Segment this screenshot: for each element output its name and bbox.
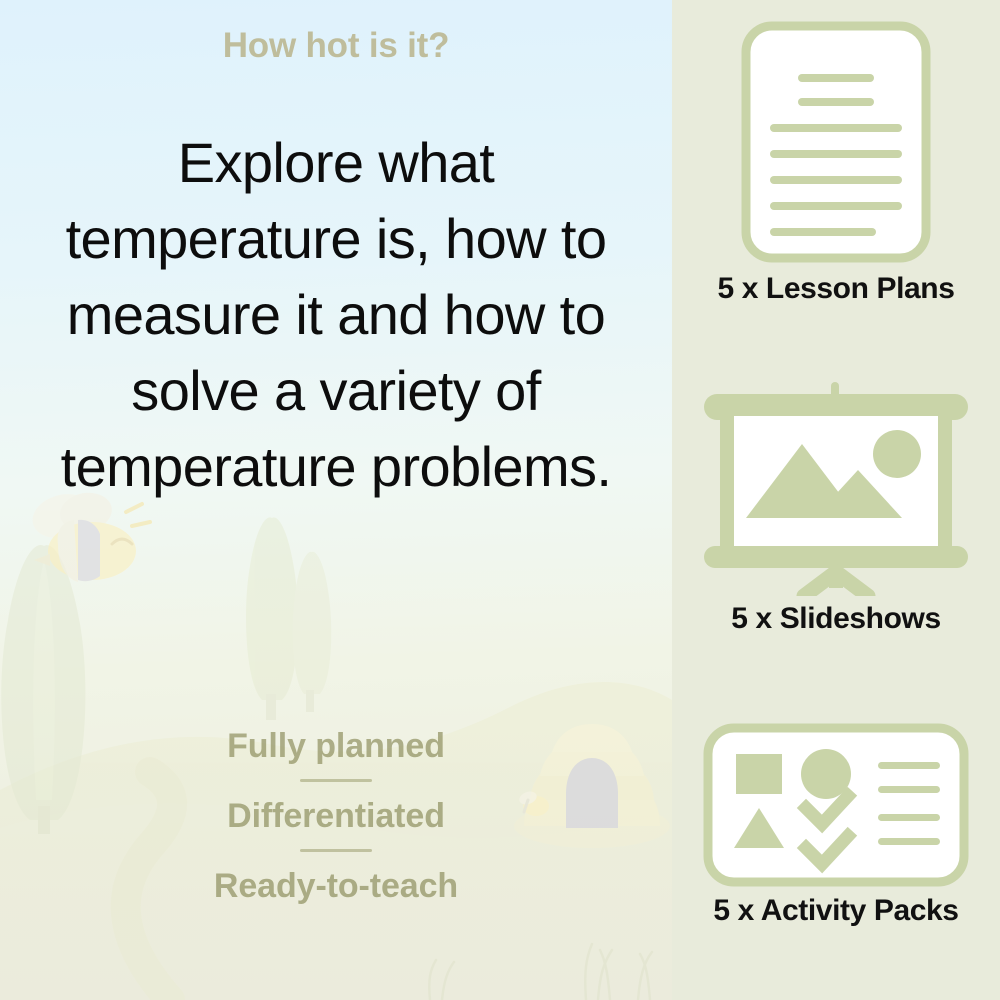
sidebar-card-label-activity-packs: 5 x Activity Packs bbox=[672, 894, 1000, 928]
sidebar-card-lesson-plans[interactable]: 5 x Lesson Plans bbox=[672, 18, 1000, 306]
feature-item-differentiated: Differentiated bbox=[0, 792, 672, 840]
cypress-tree-right bbox=[246, 517, 331, 720]
activity-card-icon bbox=[702, 722, 970, 888]
promo-graphic: How hot is it? Explore what temperature … bbox=[0, 0, 1000, 1000]
feature-divider bbox=[300, 779, 372, 782]
lead-paragraph: Explore what temperature is, how to meas… bbox=[34, 125, 638, 505]
sidebar-card-slideshows[interactable]: 5 x Slideshows bbox=[672, 382, 1000, 636]
sidebar-card-label-lesson-plans: 5 x Lesson Plans bbox=[672, 272, 1000, 306]
feature-item-ready-to-teach: Ready-to-teach bbox=[0, 862, 672, 910]
presentation-screen-icon bbox=[698, 382, 974, 596]
feature-list: Fully planned Differentiated Ready-to-te… bbox=[0, 722, 672, 910]
feature-item-fully-planned: Fully planned bbox=[0, 722, 672, 770]
resource-sidebar: 5 x Lesson Plans bbox=[672, 0, 1000, 1000]
page-title: How hot is it? bbox=[0, 26, 672, 66]
sidebar-card-label-slideshows: 5 x Slideshows bbox=[672, 602, 1000, 636]
sidebar-card-activity-packs[interactable]: 5 x Activity Packs bbox=[672, 722, 1000, 928]
left-content-panel: How hot is it? Explore what temperature … bbox=[0, 0, 672, 1000]
feature-divider bbox=[300, 849, 372, 852]
document-icon bbox=[736, 18, 936, 266]
